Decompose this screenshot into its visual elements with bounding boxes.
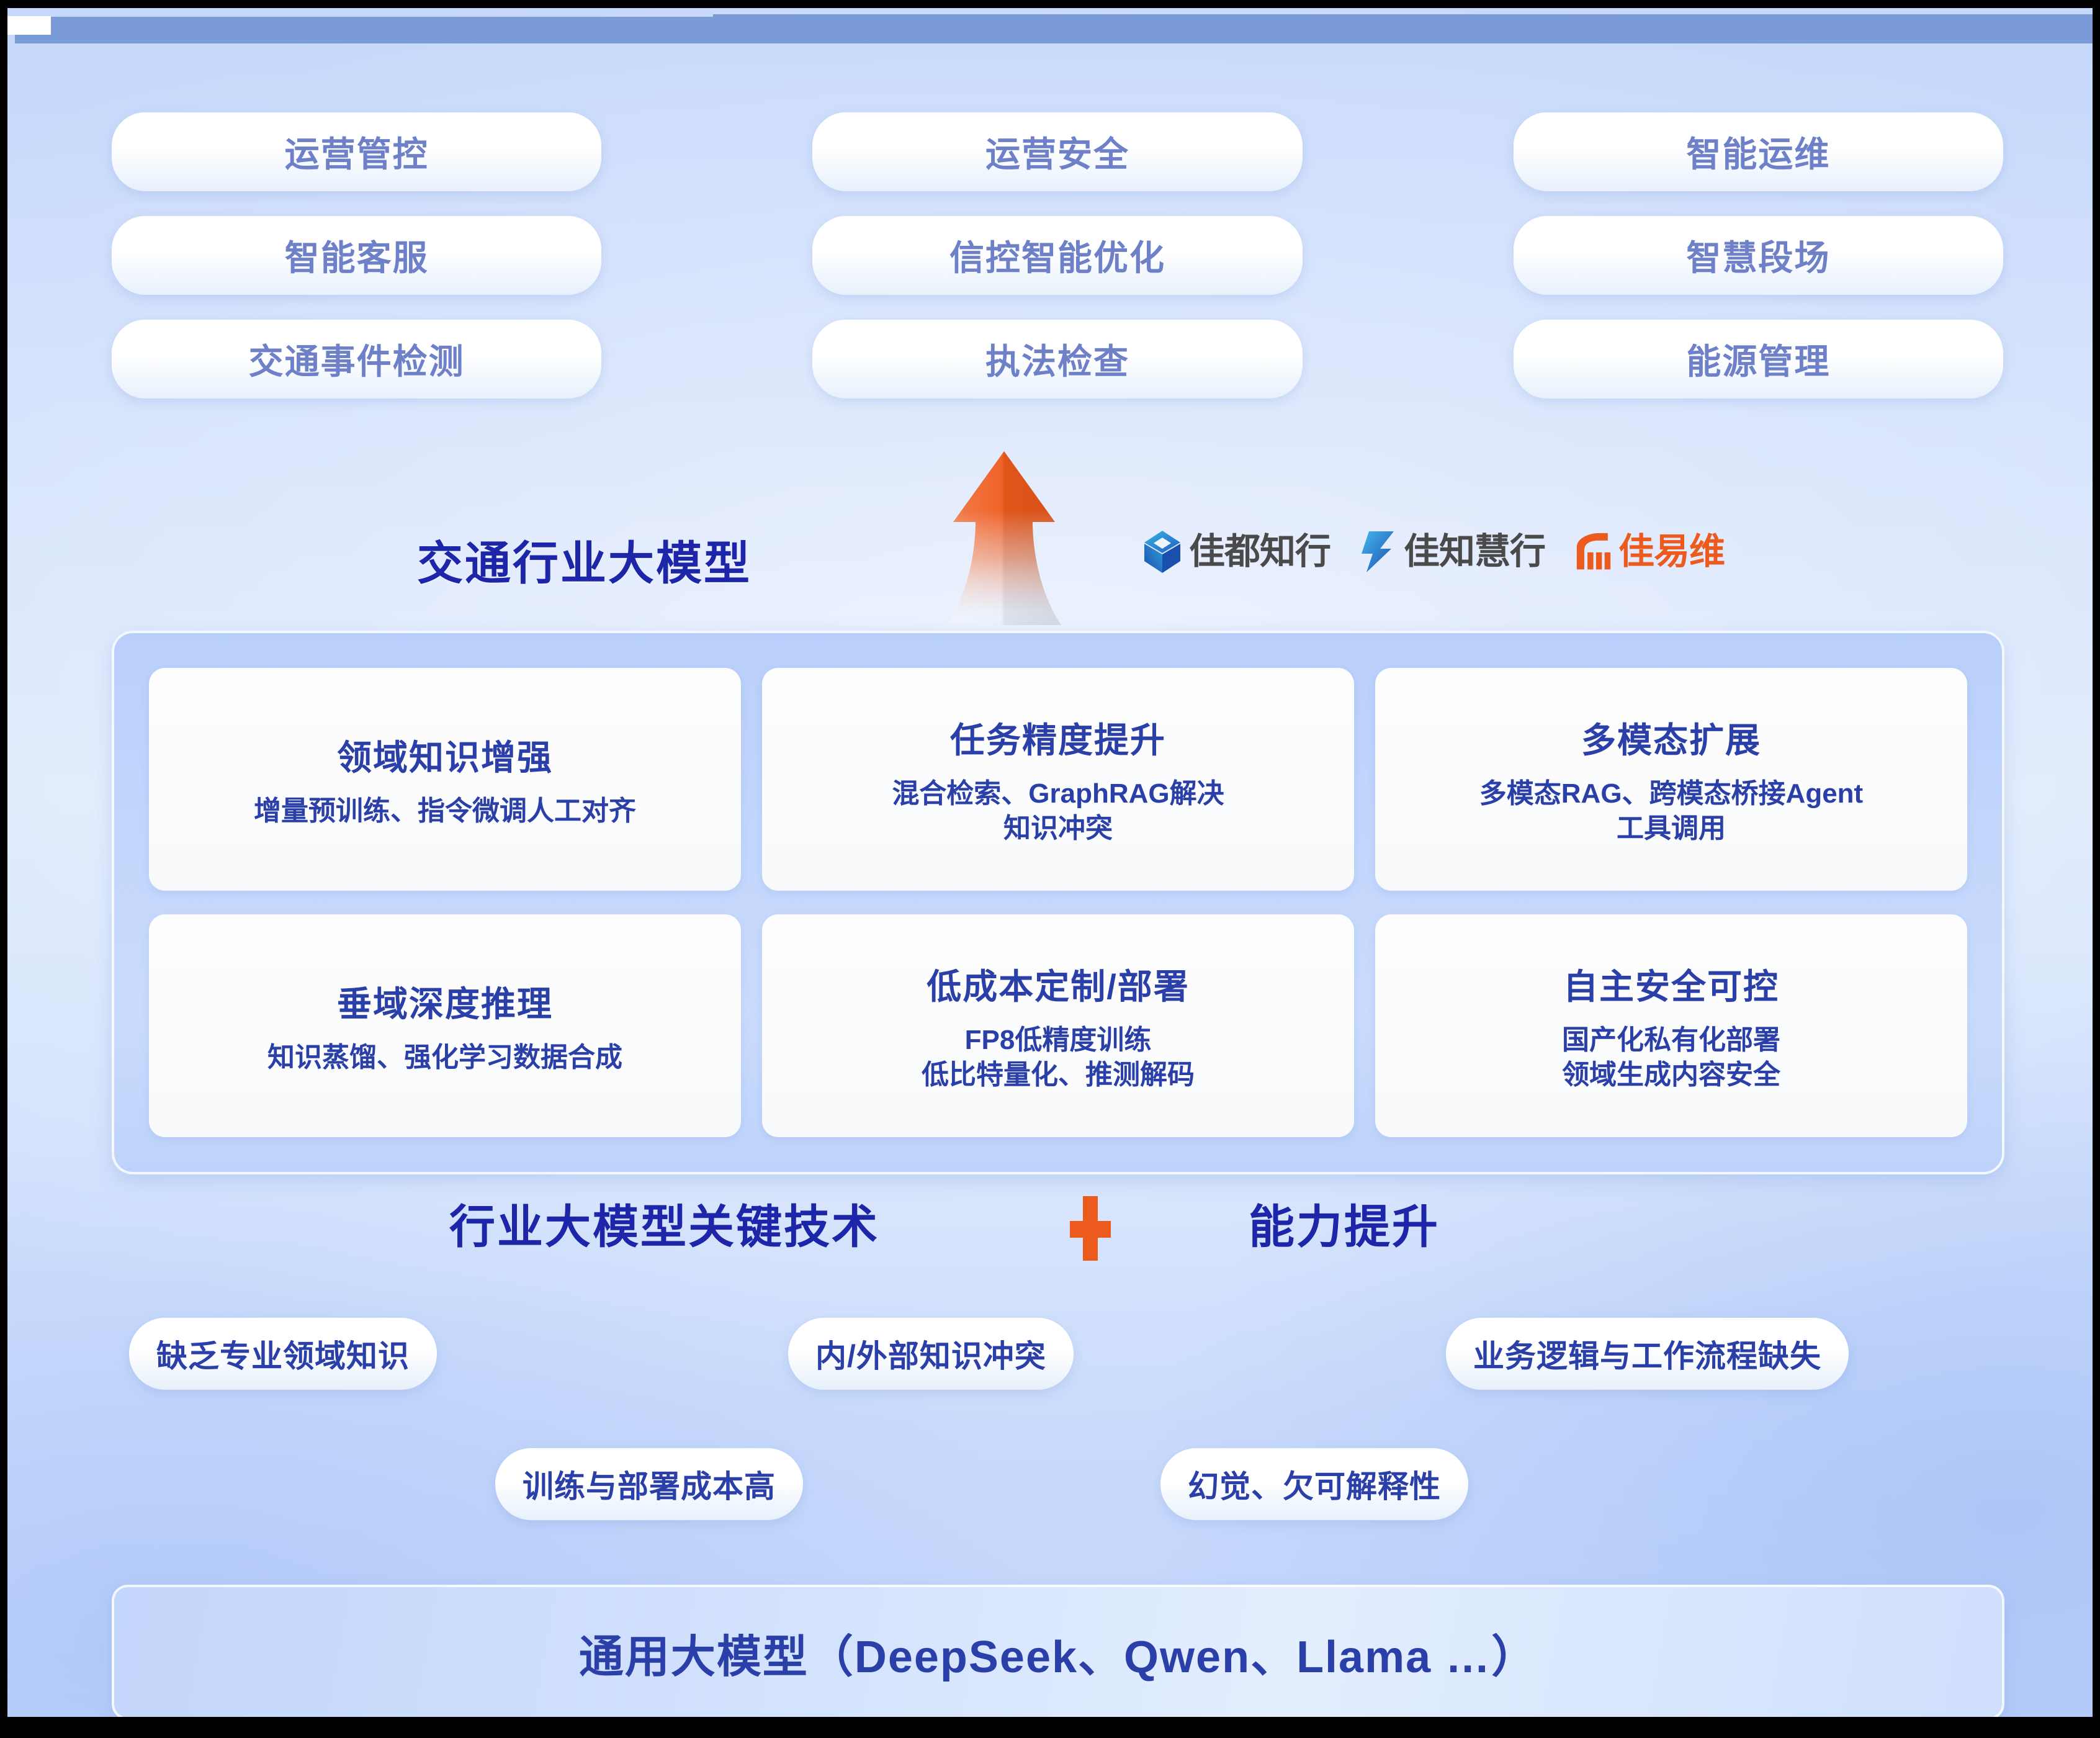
issue-pill-hallucination[interactable]: 幻觉、欠可解释性 <box>1160 1448 1468 1520</box>
scenario-cell: 执法检查 <box>812 320 1302 398</box>
tech-card-desc: FP8低精度训练低比特量化、推测解码 <box>922 1023 1195 1093</box>
logo-jiayiwei: 佳易维 <box>1573 530 1725 574</box>
tech-card-title: 垂域深度推理 <box>337 976 553 1027</box>
issue-pill-missing-workflow[interactable]: 业务逻辑与工作流程缺失 <box>1446 1318 1849 1390</box>
tech-card-title: 多模态扩展 <box>1581 713 1761 763</box>
scenario-pill-traffic-incident-detection[interactable]: 交通事件检测 <box>112 320 601 398</box>
partner-logos: 佳都知行 佳知慧行 <box>1143 530 1725 574</box>
tech-card-vertical-reasoning[interactable]: 垂域深度推理 知识蒸馏、强化学习数据合成 <box>149 914 741 1137</box>
issue-row-1: 缺乏专业领域知识 内/外部知识冲突 业务逻辑与工作流程缺失 <box>7 1318 2093 1390</box>
diamond-logo-icon <box>1143 530 1182 574</box>
scenario-cell: 智能客服 <box>112 216 601 295</box>
scenario-pill-smart-depot[interactable]: 智慧段场 <box>1514 216 2003 295</box>
tech-card-title: 任务精度提升 <box>950 713 1166 763</box>
lightning-logo-icon <box>1358 530 1396 574</box>
tech-card-title: 自主安全可控 <box>1563 959 1779 1009</box>
key-tech-heading: 行业大模型关键技术 <box>449 1190 879 1256</box>
logo-label-jiayiwei: 佳易维 <box>1618 534 1725 570</box>
top-white-notch <box>7 16 51 35</box>
plus-icon <box>1056 1196 1124 1261</box>
issue-pill-high-training-cost[interactable]: 训练与部署成本高 <box>495 1448 803 1520</box>
logo-label-jiadu-zhixing: 佳都知行 <box>1189 534 1330 570</box>
tech-card-desc: 多模态RAG、跨模态桥接Agent工具调用 <box>1479 777 1863 847</box>
general-model-banner: 通用大模型（DeepSeek、Qwen、Llama …） <box>112 1585 2004 1717</box>
logo-jiadu-zhixing: 佳都知行 <box>1143 530 1330 574</box>
scenario-pill-smart-service[interactable]: 智能客服 <box>112 216 601 295</box>
capability-heading: 能力提升 <box>1249 1190 1440 1256</box>
tech-card-desc: 混合检索、GraphRAG解决知识冲突 <box>892 777 1224 847</box>
scenario-pill-smart-ops[interactable]: 智能运维 <box>1514 112 2003 191</box>
tech-card-low-cost-deploy[interactable]: 低成本定制/部署 FP8低精度训练低比特量化、推测解码 <box>762 914 1354 1137</box>
issue-pill-knowledge-conflict[interactable]: 内/外部知识冲突 <box>788 1318 1074 1390</box>
arch-logo-icon <box>1573 530 1611 574</box>
tech-card-title: 低成本定制/部署 <box>927 959 1190 1009</box>
scenario-cell: 交通事件检测 <box>112 320 601 398</box>
tech-card-domain-knowledge[interactable]: 领域知识增强 增量预训练、指令微调人工对齐 <box>149 668 741 891</box>
tech-card-title: 领域知识增强 <box>337 730 553 780</box>
tech-card-desc: 国产化私有化部署领域生成内容安全 <box>1562 1023 1780 1093</box>
tech-card-multimodal[interactable]: 多模态扩展 多模态RAG、跨模态桥接Agent工具调用 <box>1375 668 1967 891</box>
scenario-pill-signal-optimization[interactable]: 信控智能优化 <box>812 216 1302 295</box>
scenario-pill-operation-safety[interactable]: 运营安全 <box>812 112 1302 191</box>
tech-card-desc: 增量预训练、指令微调人工对齐 <box>254 794 636 829</box>
general-model-label: 通用大模型（DeepSeek、Qwen、Llama …） <box>579 1620 1537 1685</box>
industry-heading-row: 交通行业大模型 <box>7 526 2093 601</box>
diagram-root: 运营管控 运营安全 智能运维 智能客服 信控智能优化 智慧段场 交通事件检测 执… <box>0 0 2100 1738</box>
issue-row-2: 训练与部署成本高 幻觉、欠可解释性 <box>7 1448 2093 1520</box>
scenario-cell: 智能运维 <box>1514 112 2003 191</box>
key-tech-grid: 领域知识增强 增量预训练、指令微调人工对齐 任务精度提升 混合检索、GraphR… <box>149 668 1967 1137</box>
industry-model-title: 交通行业大模型 <box>417 526 752 593</box>
scenario-pill-operation-control[interactable]: 运营管控 <box>112 112 601 191</box>
mid-heading-row: 行业大模型关键技术 能力提升 <box>7 1187 2093 1268</box>
page-surface: 运营管控 运营安全 智能运维 智能客服 信控智能优化 智慧段场 交通事件检测 执… <box>7 8 2093 1717</box>
key-tech-panel: 领域知识增强 增量预训练、指令微调人工对齐 任务精度提升 混合检索、GraphR… <box>112 631 2004 1174</box>
logo-label-jiazhi-huixing: 佳知慧行 <box>1404 534 1545 570</box>
tech-card-autonomous-security[interactable]: 自主安全可控 国产化私有化部署领域生成内容安全 <box>1375 914 1967 1137</box>
tech-card-desc: 知识蒸馏、强化学习数据合成 <box>267 1040 622 1075</box>
scenario-cell: 能源管理 <box>1514 320 2003 398</box>
scenario-pill-energy-management[interactable]: 能源管理 <box>1514 320 2003 398</box>
scenario-cell: 运营安全 <box>812 112 1302 191</box>
scenario-grid: 运营管控 运营安全 智能运维 智能客服 信控智能优化 智慧段场 交通事件检测 执… <box>112 112 2003 398</box>
tech-card-task-accuracy[interactable]: 任务精度提升 混合检索、GraphRAG解决知识冲突 <box>762 668 1354 891</box>
scenario-cell: 智慧段场 <box>1514 216 2003 295</box>
scenario-cell: 信控智能优化 <box>812 216 1302 295</box>
issue-pill-lack-domain-knowledge[interactable]: 缺乏专业领域知识 <box>129 1318 437 1390</box>
top-accent-bar-secondary <box>713 14 2093 43</box>
scenario-cell: 运营管控 <box>112 112 601 191</box>
scenario-pill-law-enforcement-inspection[interactable]: 执法检查 <box>812 320 1302 398</box>
logo-jiazhi-huixing: 佳知慧行 <box>1358 530 1545 574</box>
